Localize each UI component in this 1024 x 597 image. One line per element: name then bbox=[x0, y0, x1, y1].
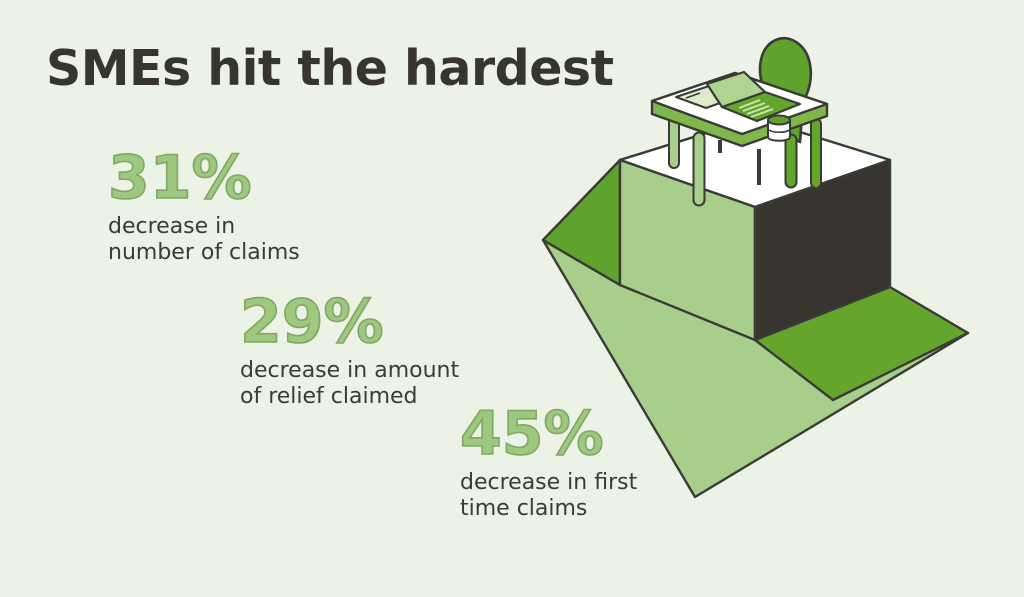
desk-top-surface bbox=[652, 73, 827, 134]
arrow-wing-left bbox=[543, 160, 620, 285]
page-title: SMEs hit the hardest bbox=[46, 42, 614, 96]
coffee-cup-liquid bbox=[768, 116, 790, 125]
stat-value: 29% bbox=[240, 292, 459, 352]
chair-back bbox=[760, 38, 811, 142]
paper-sheet-detail bbox=[686, 93, 700, 98]
stat-description: decrease in first time claims bbox=[460, 470, 637, 523]
laptop-keyboard-lines bbox=[739, 100, 773, 117]
stat-value: 31% bbox=[108, 148, 300, 208]
stat-block-claims-count: 31% decrease in number of claims bbox=[108, 148, 300, 267]
stat-value: 45% bbox=[460, 404, 637, 464]
laptop-screen bbox=[707, 72, 765, 107]
cube-left-face bbox=[620, 160, 755, 340]
laptop-base bbox=[722, 92, 800, 121]
stat-block-relief-amount: 29% decrease in amount of relief claimed bbox=[240, 292, 459, 411]
cube-top-face bbox=[620, 118, 890, 207]
stat-description: decrease in number of claims bbox=[108, 214, 300, 267]
coffee-cup-body bbox=[768, 120, 790, 141]
paper-sheet bbox=[676, 83, 748, 108]
stat-description: decrease in amount of relief claimed bbox=[240, 358, 459, 411]
infographic-canvas: SMEs hit the hardest 31% decrease in num… bbox=[0, 0, 1024, 597]
cube-right-face bbox=[755, 160, 890, 340]
arrow-wing-right bbox=[755, 287, 968, 400]
coffee-cup-band bbox=[769, 130, 789, 132]
stat-block-first-time-claims: 45% decrease in first time claims bbox=[460, 404, 637, 523]
desk-top-edge bbox=[652, 73, 827, 146]
